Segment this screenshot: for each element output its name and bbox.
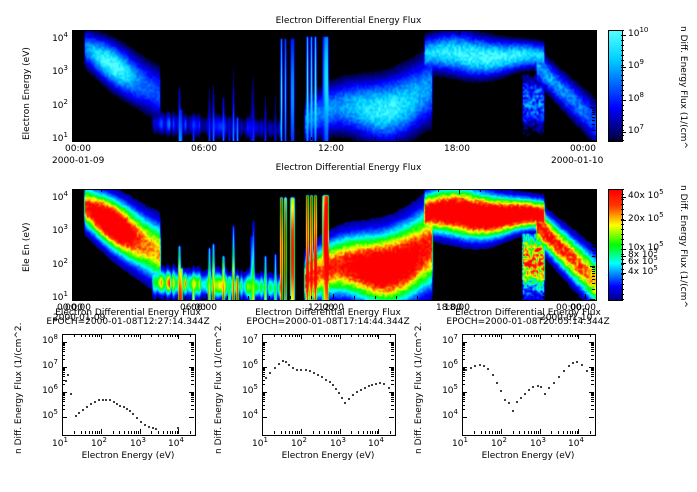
spectrum-xtick-minor bbox=[274, 334, 275, 337]
spectrum-0-xtick-2: 102 bbox=[91, 439, 107, 449]
panel2-colorbar-label: n Diff. Energy Flux (1/(cm^ bbox=[678, 185, 688, 308]
spectrum-xtick-minor bbox=[575, 334, 576, 337]
spectrum-ytick-minor bbox=[391, 368, 394, 369]
spectrum-ytick-minor bbox=[391, 394, 394, 395]
spectrum-1-xtick-2: 102 bbox=[291, 439, 307, 449]
ytick-major bbox=[590, 199, 595, 200]
cbar-tick-minor bbox=[621, 45, 624, 46]
data-point bbox=[341, 397, 343, 399]
cbar-tick-minor bbox=[621, 105, 624, 106]
ytick-minor bbox=[72, 130, 75, 131]
spectrum-xtick-minor bbox=[136, 334, 137, 337]
data-point bbox=[537, 385, 539, 387]
spectrum-ytick-minor bbox=[391, 380, 394, 381]
spectrum-xtick-minor bbox=[531, 431, 532, 434]
spectrum-xtick-minor bbox=[167, 334, 168, 337]
exponent: 5 bbox=[254, 383, 258, 391]
cbar-tick-minor bbox=[621, 279, 624, 280]
spectrum-2-ytick-7: 107 bbox=[432, 336, 458, 346]
spectrum-xtick bbox=[378, 429, 379, 434]
panel1-xtick-18:00: 18:00 bbox=[444, 144, 470, 154]
spectrum-ytick-minor bbox=[591, 380, 594, 381]
xtick-major bbox=[206, 30, 207, 35]
spectrum-xtick bbox=[462, 334, 463, 339]
exponent: 3 bbox=[64, 64, 68, 72]
ytick-minor bbox=[72, 234, 75, 235]
data-point bbox=[496, 382, 498, 384]
spectrum-ytick-minor bbox=[591, 370, 594, 371]
spectrum-ytick-minor bbox=[462, 394, 465, 395]
spectrum-xtick-minor bbox=[89, 334, 90, 337]
spectrum-ytick-minor bbox=[262, 347, 265, 348]
cbar-tick-minor bbox=[621, 65, 624, 66]
data-point bbox=[563, 370, 565, 372]
data-point bbox=[75, 415, 77, 417]
xtick-minor bbox=[185, 296, 186, 299]
exponent: 8 bbox=[54, 333, 58, 341]
spectrum-xtick bbox=[340, 429, 341, 434]
spectrum-0-xtick-1: 101 bbox=[52, 439, 68, 449]
ytick-minor bbox=[72, 283, 75, 284]
exponent: 9 bbox=[639, 58, 643, 66]
spectrum-xtick-minor bbox=[163, 431, 164, 434]
ytick-minor bbox=[72, 83, 75, 84]
spectrum-xtick-minor bbox=[572, 431, 573, 434]
exponent: 5 bbox=[659, 211, 663, 219]
spectrum-ytick-minor bbox=[62, 369, 65, 370]
data-point bbox=[65, 380, 67, 382]
ytick-minor bbox=[592, 279, 595, 280]
spectrum-ytick-minor bbox=[262, 393, 265, 394]
spectrum-xtick-minor bbox=[551, 334, 552, 337]
spectrum-xtick-minor bbox=[295, 431, 296, 434]
data-point bbox=[375, 383, 377, 385]
data-point bbox=[329, 381, 331, 383]
spectrum-ytick-minor bbox=[62, 355, 65, 356]
data-point bbox=[126, 408, 128, 410]
panel2-ytick-2: 102 bbox=[44, 260, 68, 270]
spectrum-ytick bbox=[262, 417, 267, 418]
spectrum-xtick-minor bbox=[95, 334, 96, 337]
ytick-minor bbox=[592, 234, 595, 235]
spectrum-xtick-minor bbox=[363, 431, 364, 434]
spectrum-2-ytick-6: 106 bbox=[432, 361, 458, 371]
spectrum-xtick-minor bbox=[99, 431, 100, 434]
spectrum-ytick-minor bbox=[591, 347, 594, 348]
spectrum-2-ytick-4: 104 bbox=[432, 411, 458, 421]
spectrum-xtick-minor bbox=[131, 431, 132, 434]
spectrum-ytick bbox=[462, 417, 467, 418]
spectrum-xtick-minor bbox=[531, 334, 532, 337]
spectrum-ytick-minor bbox=[191, 374, 194, 375]
spectrum-xtick bbox=[140, 334, 141, 339]
data-point bbox=[67, 374, 69, 376]
data-point bbox=[265, 377, 267, 379]
xtick-minor bbox=[101, 189, 102, 192]
cbar-tick-minor bbox=[621, 115, 624, 116]
spectrum-ytick-minor bbox=[462, 399, 465, 400]
spectrum-ytick-minor bbox=[191, 394, 194, 395]
spectrum-xtick-minor bbox=[334, 334, 335, 337]
data-point bbox=[296, 369, 298, 371]
panel1-xtick-00:00: 00:00 bbox=[570, 144, 596, 154]
spectrum-xtick-minor bbox=[81, 431, 82, 434]
spectrum-0-plot[interactable] bbox=[62, 334, 196, 436]
spectrum-ytick-minor bbox=[262, 409, 265, 410]
spectrum-ytick-minor bbox=[262, 399, 265, 400]
spectrum-ytick-minor bbox=[591, 345, 594, 346]
ytick-minor bbox=[592, 112, 595, 113]
spectrum-ytick-minor bbox=[462, 368, 465, 369]
spectrum-1-ytick-7: 107 bbox=[232, 336, 258, 346]
spectrum-ytick-minor bbox=[191, 355, 194, 356]
spectrum-0-xtick-4: 104 bbox=[168, 439, 184, 449]
spectrum-xtick bbox=[540, 334, 541, 339]
xtick-minor bbox=[375, 30, 376, 33]
spectrum-xtick-minor bbox=[295, 334, 296, 337]
ytick-minor bbox=[592, 269, 595, 270]
spectrum-xtick-minor bbox=[128, 334, 129, 337]
spectrum-xtick-minor bbox=[338, 334, 339, 337]
spectrum-ytick-minor bbox=[62, 394, 65, 395]
spectrum-ytick-minor bbox=[191, 345, 194, 346]
spectrum-xtick-minor bbox=[285, 431, 286, 434]
spectrum-xtick bbox=[301, 429, 302, 434]
ytick-minor bbox=[592, 43, 595, 44]
ytick-minor bbox=[72, 45, 75, 46]
spectrum-ytick-minor bbox=[62, 351, 65, 352]
cbar-tick-major bbox=[621, 197, 626, 198]
spectrum-xtick-minor bbox=[158, 334, 159, 337]
spectrum-xtick-minor bbox=[563, 334, 564, 337]
spectrum-ytick-minor bbox=[391, 347, 394, 348]
data-point bbox=[155, 428, 157, 430]
panel2-spectrogram[interactable] bbox=[72, 189, 597, 301]
spectrum-ytick-minor bbox=[262, 351, 265, 352]
spectrum-ytick-minor bbox=[462, 393, 465, 394]
cbar-tick-minor bbox=[621, 229, 624, 230]
ytick-minor bbox=[72, 47, 75, 48]
spectrum-xtick-minor bbox=[572, 334, 573, 337]
spectrum-1-xtick-1: 101 bbox=[252, 439, 268, 449]
spectrum-xtick-minor bbox=[590, 334, 591, 337]
xtick-minor bbox=[354, 189, 355, 192]
spectrum-ytick-minor bbox=[391, 370, 394, 371]
cbar-tick-minor bbox=[621, 30, 624, 31]
spectrum-ytick-minor bbox=[462, 343, 465, 344]
spectrum-2-xlabel: Electron Energy (eV) bbox=[437, 451, 619, 461]
cbar-tick-minor bbox=[621, 289, 624, 290]
exponent: 5 bbox=[659, 188, 663, 196]
ytick-minor bbox=[72, 57, 75, 58]
panel1-cbar-label-3: 107 bbox=[628, 126, 644, 136]
spectrum-ytick-minor bbox=[262, 374, 265, 375]
spectrum-xtick-minor bbox=[292, 431, 293, 434]
xtick-minor bbox=[311, 189, 312, 192]
panel1-ytick-1: 101 bbox=[44, 134, 68, 144]
data-point bbox=[98, 399, 100, 401]
spectrum-ytick-minor bbox=[62, 370, 65, 371]
spectrum-ytick-minor bbox=[391, 401, 394, 402]
spectrum-xtick-minor bbox=[336, 334, 337, 337]
ytick-minor bbox=[592, 57, 595, 58]
exponent: 3 bbox=[64, 223, 68, 231]
spectrum-ytick-minor bbox=[591, 384, 594, 385]
spectrum-ytick-minor bbox=[591, 409, 594, 410]
spectrum-xtick-minor bbox=[297, 334, 298, 337]
spectrum-xtick-minor bbox=[170, 334, 171, 337]
exponent: 4 bbox=[454, 408, 458, 416]
xtick-major bbox=[459, 294, 460, 299]
data-point bbox=[492, 374, 494, 376]
ytick-minor bbox=[72, 256, 75, 257]
spectrum-xtick-minor bbox=[563, 431, 564, 434]
ytick-minor bbox=[72, 78, 75, 79]
spectrum-xtick-minor bbox=[281, 334, 282, 337]
ytick-minor bbox=[72, 124, 75, 125]
ytick-minor bbox=[592, 47, 595, 48]
spectrum-xtick bbox=[578, 334, 579, 339]
spectrum-xtick bbox=[378, 334, 379, 339]
cbar-tick-minor bbox=[621, 244, 624, 245]
spectrum-xtick-minor bbox=[481, 431, 482, 434]
ytick-minor bbox=[592, 237, 595, 238]
spectrum-xtick-minor bbox=[575, 431, 576, 434]
ytick-minor bbox=[72, 204, 75, 205]
spectrum-xtick-minor bbox=[97, 431, 98, 434]
spectrum-xtick bbox=[578, 429, 579, 434]
ytick-major bbox=[590, 140, 595, 141]
spectrum-ytick-minor bbox=[391, 395, 394, 396]
spectrum-xtick-minor bbox=[567, 431, 568, 434]
spectrum-ytick-minor bbox=[191, 397, 194, 398]
spectrum-ytick-minor bbox=[391, 405, 394, 406]
ytick-major bbox=[72, 73, 77, 74]
ytick-minor bbox=[592, 209, 595, 210]
spectrum-xtick-minor bbox=[390, 431, 391, 434]
spectrum-ytick bbox=[389, 417, 394, 418]
data-point bbox=[500, 390, 502, 392]
data-point bbox=[368, 385, 370, 387]
ytick-minor bbox=[592, 110, 595, 111]
spectrum-xtick-minor bbox=[474, 431, 475, 434]
ytick-minor bbox=[72, 240, 75, 241]
cbar-tick-minor bbox=[621, 284, 624, 285]
spectrum-xtick-minor bbox=[485, 334, 486, 337]
spectrum-xtick-minor bbox=[289, 431, 290, 434]
xtick-minor bbox=[417, 189, 418, 192]
spectrum-ytick-minor bbox=[62, 409, 65, 410]
spectrum-ytick-minor bbox=[262, 368, 265, 369]
exponent: 4 bbox=[64, 190, 68, 198]
data-point bbox=[520, 397, 522, 399]
spectrum-xtick-minor bbox=[74, 431, 75, 434]
spectrum-ytick-minor bbox=[591, 344, 594, 345]
ytick-minor bbox=[72, 201, 75, 202]
spectrum-ytick-minor bbox=[62, 384, 65, 385]
cbar-tick-minor bbox=[621, 299, 624, 300]
spectrum-xtick bbox=[62, 334, 63, 339]
cbar-tick-minor bbox=[621, 249, 624, 250]
xtick-minor bbox=[185, 189, 186, 192]
spectrum-ytick-minor bbox=[191, 369, 194, 370]
spectrum-ytick-minor bbox=[191, 409, 194, 410]
spectrum-ytick-minor bbox=[262, 394, 265, 395]
data-point bbox=[487, 368, 489, 370]
spectrum-ytick-minor bbox=[462, 397, 465, 398]
ytick-minor bbox=[592, 246, 595, 247]
spectrum-ytick-minor bbox=[391, 409, 394, 410]
exponent: 4 bbox=[579, 436, 583, 444]
spectrum-xtick-minor bbox=[590, 431, 591, 434]
ytick-minor bbox=[72, 209, 75, 210]
xtick-major bbox=[80, 189, 81, 194]
spectrum-xtick bbox=[140, 429, 141, 434]
xtick-major bbox=[333, 30, 334, 35]
spectrum-ytick-minor bbox=[462, 345, 465, 346]
spectrum-xtick bbox=[101, 334, 102, 339]
spectrum-xtick-minor bbox=[167, 431, 168, 434]
exponent: 4 bbox=[179, 436, 183, 444]
ytick-minor bbox=[592, 276, 595, 277]
xtick-minor bbox=[417, 296, 418, 299]
spectrum-ytick-minor bbox=[191, 384, 194, 385]
spectrum-1-plot[interactable] bbox=[262, 334, 396, 436]
spectrum-xtick-minor bbox=[495, 431, 496, 434]
data-point bbox=[274, 367, 276, 369]
xtick-minor bbox=[396, 189, 397, 192]
ytick-minor bbox=[72, 50, 75, 51]
spectrum-xtick-minor bbox=[134, 334, 135, 337]
xtick-major bbox=[459, 135, 460, 140]
spectrum-ytick-minor bbox=[62, 380, 65, 381]
cbar-tick-minor bbox=[621, 125, 624, 126]
spectrum-ytick-minor bbox=[262, 345, 265, 346]
data-point bbox=[348, 398, 350, 400]
spectrum-xtick-minor bbox=[492, 334, 493, 337]
data-point bbox=[360, 389, 362, 391]
data-point bbox=[379, 382, 381, 384]
spectrum-xtick-minor bbox=[331, 334, 332, 337]
xtick-major bbox=[206, 294, 207, 299]
xtick-major bbox=[80, 30, 81, 35]
data-point bbox=[388, 387, 390, 389]
spectrum-ytick-minor bbox=[462, 395, 465, 396]
spectrum-xtick-minor bbox=[299, 431, 300, 434]
spectrum-xtick-minor bbox=[170, 431, 171, 434]
spectrum-xtick-minor bbox=[513, 431, 514, 434]
spectrum-1-ylabel: n Diff. Energy Flux (1/(cm^2. bbox=[214, 323, 224, 454]
spectrum-2-xtick-2: 102 bbox=[491, 439, 507, 449]
spectrum-ytick-minor bbox=[591, 355, 594, 356]
xtick-minor bbox=[290, 189, 291, 192]
spectrum-ytick-minor bbox=[262, 401, 265, 402]
spectrum-ytick-minor bbox=[391, 351, 394, 352]
ytick-minor bbox=[592, 206, 595, 207]
spectrum-xtick-minor bbox=[497, 334, 498, 337]
xtick-minor bbox=[522, 137, 523, 140]
spectrum-ytick-minor bbox=[62, 347, 65, 348]
spectrum-ytick-minor bbox=[462, 374, 465, 375]
panel1-spectrogram[interactable] bbox=[72, 30, 597, 142]
exponent: 4 bbox=[379, 436, 383, 444]
spectrum-ytick-minor bbox=[191, 344, 194, 345]
spectrum-xtick-minor bbox=[570, 334, 571, 337]
exponent: 2 bbox=[102, 436, 106, 444]
xtick-minor bbox=[122, 189, 123, 192]
ytick-minor bbox=[592, 283, 595, 284]
xtick-major bbox=[80, 294, 81, 299]
spectrum-xtick-minor bbox=[163, 334, 164, 337]
spectrum-ytick-minor bbox=[391, 344, 394, 345]
xtick-minor bbox=[269, 137, 270, 140]
spectrum-ytick-minor bbox=[391, 345, 394, 346]
data-point bbox=[321, 376, 323, 378]
spectrum-xtick-minor bbox=[377, 431, 378, 434]
ytick-minor bbox=[72, 81, 75, 82]
spectrum-2-ytick-5: 105 bbox=[432, 386, 458, 396]
spectrum-xtick-minor bbox=[551, 431, 552, 434]
cbar-tick-minor bbox=[621, 254, 624, 255]
cbar-tick-minor bbox=[621, 140, 624, 141]
spectrum-2-plot[interactable] bbox=[462, 334, 596, 436]
spectrum-xtick-minor bbox=[113, 334, 114, 337]
xtick-major bbox=[333, 294, 334, 299]
data-point bbox=[586, 370, 588, 372]
spectrum-xtick-minor bbox=[281, 431, 282, 434]
exponent: 7 bbox=[54, 358, 58, 366]
data-point bbox=[140, 421, 142, 423]
xtick-minor bbox=[227, 137, 228, 140]
spectrum-xtick-minor bbox=[390, 334, 391, 337]
ytick-minor bbox=[592, 45, 595, 46]
spectrum-0-ytick-5: 105 bbox=[32, 411, 58, 421]
data-point bbox=[553, 382, 555, 384]
spectrum-xtick bbox=[462, 429, 463, 434]
spectrum-xtick-minor bbox=[570, 431, 571, 434]
spectrum-xtick-minor bbox=[489, 334, 490, 337]
data-point bbox=[148, 426, 150, 428]
spectrum-xtick bbox=[101, 429, 102, 434]
spectrum-xtick-minor bbox=[319, 431, 320, 434]
panel1-ytick-3: 103 bbox=[44, 67, 68, 77]
xtick-minor bbox=[248, 189, 249, 192]
spectrum-ytick-minor bbox=[62, 368, 65, 369]
ytick-minor bbox=[72, 206, 75, 207]
xtick-minor bbox=[564, 296, 565, 299]
cbar-tick-minor bbox=[621, 264, 624, 265]
ytick-minor bbox=[592, 222, 595, 223]
data-point bbox=[344, 402, 346, 404]
cbar-tick-major bbox=[621, 256, 626, 257]
data-point bbox=[113, 401, 115, 403]
ytick-major bbox=[72, 299, 77, 300]
spectrum-ytick-minor bbox=[462, 405, 465, 406]
data-point bbox=[292, 367, 294, 369]
spectrum-ytick-minor bbox=[191, 372, 194, 373]
cbar-tick-minor bbox=[621, 204, 624, 205]
data-point bbox=[548, 387, 550, 389]
spectrum-0-xlabel: Electron Energy (eV) bbox=[37, 451, 219, 461]
spectrum-ytick-minor bbox=[262, 359, 265, 360]
spectrum-xtick-minor bbox=[536, 334, 537, 337]
cbar-tick-minor bbox=[621, 35, 624, 36]
spectrum-ytick-minor bbox=[62, 399, 65, 400]
spectrum-ytick-minor bbox=[462, 351, 465, 352]
cbar-tick-minor bbox=[621, 209, 624, 210]
data-point bbox=[512, 410, 514, 412]
xtick-minor bbox=[354, 30, 355, 33]
